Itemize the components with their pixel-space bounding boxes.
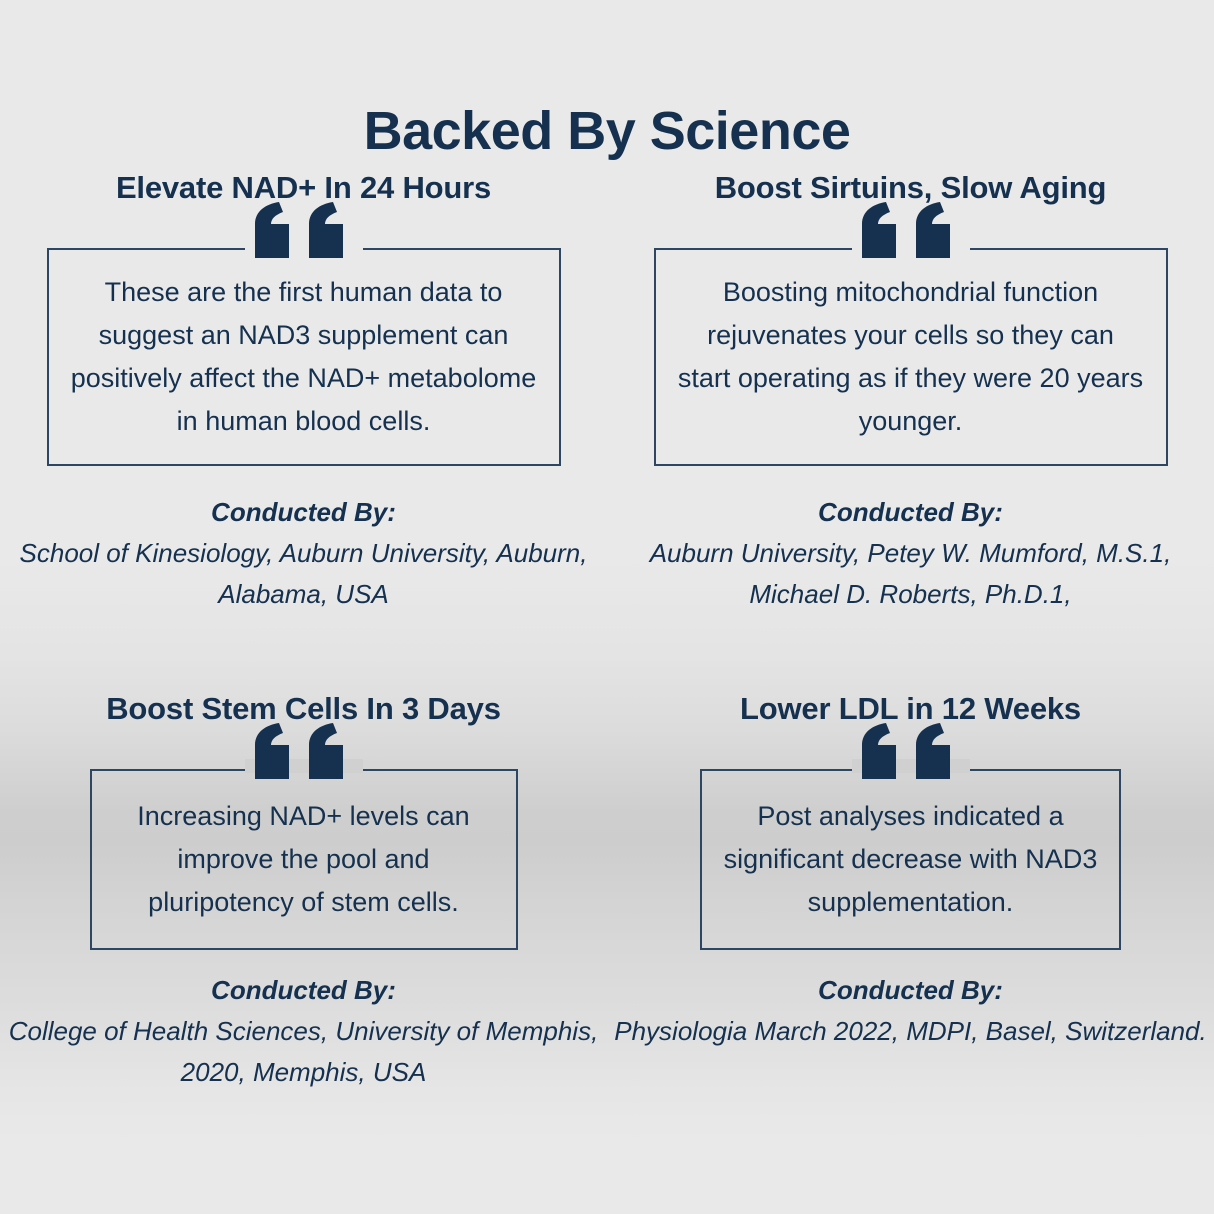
quote-block: Post analyses indicated a significant de… bbox=[700, 769, 1121, 950]
backed-by-science-poster: Backed By Science Elevate NAD+ In 24 Hou… bbox=[0, 0, 1214, 1214]
science-card: Boost Stem Cells In 3 Days Increasing NA… bbox=[0, 689, 607, 1093]
science-card: Boost Sirtuins, Slow Aging Boosting mito… bbox=[607, 168, 1214, 615]
conducted-by-label: Conducted By: bbox=[607, 492, 1214, 533]
quote-open-icon bbox=[852, 723, 970, 789]
conducted-by-value: Physiologia March 2022, MDPI, Basel, Swi… bbox=[614, 1011, 1207, 1052]
attribution: Conducted By: Physiologia March 2022, MD… bbox=[614, 970, 1207, 1052]
science-card: Lower LDL in 12 Weeks Post analyses indi… bbox=[607, 689, 1214, 1093]
quote-block: Increasing NAD+ levels can improve the p… bbox=[90, 769, 518, 950]
conducted-by-value: College of Health Sciences, University o… bbox=[0, 1011, 607, 1093]
quote-box: Increasing NAD+ levels can improve the p… bbox=[90, 769, 518, 950]
conducted-by-label: Conducted By: bbox=[614, 970, 1207, 1011]
conducted-by-label: Conducted By: bbox=[0, 970, 607, 1011]
quote-box: These are the first human data to sugges… bbox=[47, 248, 561, 466]
quote-block: Boosting mitochondrial function rejuvena… bbox=[654, 248, 1168, 466]
conducted-by-value: Auburn University, Petey W. Mumford, M.S… bbox=[607, 533, 1214, 615]
conducted-by-label: Conducted By: bbox=[0, 492, 607, 533]
attribution: Conducted By: College of Health Sciences… bbox=[0, 970, 607, 1093]
quote-text: Boosting mitochondrial function rejuvena… bbox=[656, 271, 1166, 443]
attribution: Conducted By: School of Kinesiology, Aub… bbox=[0, 492, 607, 615]
science-card: Elevate NAD+ In 24 Hours These are the f… bbox=[0, 168, 607, 615]
quote-open-icon bbox=[245, 723, 363, 789]
page-title: Backed By Science bbox=[0, 100, 1214, 162]
quote-text: Increasing NAD+ levels can improve the p… bbox=[92, 795, 516, 924]
quote-block: These are the first human data to sugges… bbox=[47, 248, 561, 466]
quote-open-icon bbox=[852, 202, 970, 268]
attribution: Conducted By: Auburn University, Petey W… bbox=[607, 492, 1214, 615]
quote-text: Post analyses indicated a significant de… bbox=[702, 795, 1119, 924]
quote-box: Boosting mitochondrial function rejuvena… bbox=[654, 248, 1168, 466]
quote-text: These are the first human data to sugges… bbox=[49, 271, 559, 443]
quote-box: Post analyses indicated a significant de… bbox=[700, 769, 1121, 950]
conducted-by-value: School of Kinesiology, Auburn University… bbox=[0, 533, 607, 615]
science-cards-grid: Elevate NAD+ In 24 Hours These are the f… bbox=[0, 168, 1214, 1093]
quote-open-icon bbox=[245, 202, 363, 268]
